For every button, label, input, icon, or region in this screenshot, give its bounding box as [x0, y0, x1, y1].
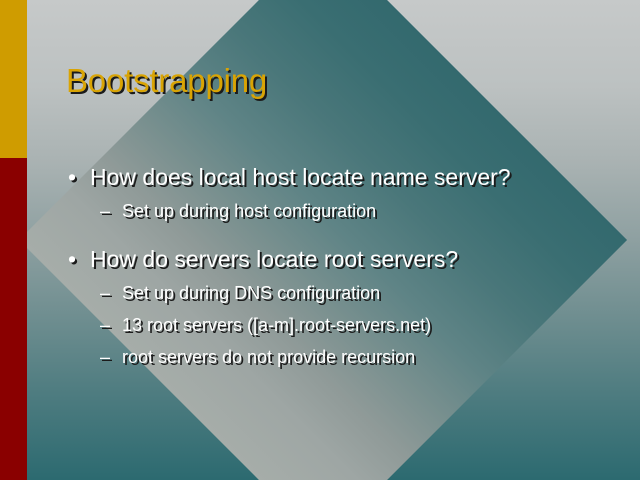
bullet-text: How do servers locate root servers?	[90, 246, 458, 272]
slide-content: Bootstrapping • How does local host loca…	[0, 0, 640, 480]
slide-title: Bootstrapping	[66, 62, 267, 100]
bullet-text: root servers do not provide recursion	[122, 347, 415, 367]
bullet-item-level2: – 13 root servers ([a-m].root-servers.ne…	[64, 313, 624, 338]
bullet-item-level2: – Set up during host configuration	[64, 199, 624, 224]
dash-marker-icon: –	[100, 281, 110, 306]
bullet-text: 13 root servers ([a-m].root-servers.net)	[122, 315, 431, 335]
bullet-item-level1: • How does local host locate name server…	[64, 162, 624, 192]
dash-marker-icon: –	[100, 199, 110, 224]
bullet-text: Set up during DNS configuration	[122, 283, 380, 303]
dash-marker-icon: –	[100, 313, 110, 338]
bullet-marker-icon: •	[68, 162, 76, 192]
presentation-slide: Bootstrapping • How does local host loca…	[0, 0, 640, 480]
dash-marker-icon: –	[100, 345, 110, 370]
bullet-item-level2: – root servers do not provide recursion	[64, 345, 624, 370]
bullet-text: Set up during host configuration	[122, 201, 376, 221]
slide-body-outline: • How does local host locate name server…	[64, 162, 624, 377]
bullet-item-level1: • How do servers locate root servers?	[64, 244, 624, 274]
outline-group-spacer	[64, 231, 624, 244]
bullet-item-level2: – Set up during DNS configuration	[64, 281, 624, 306]
bullet-text: How does local host locate name server?	[90, 164, 511, 190]
bullet-marker-icon: •	[68, 244, 76, 274]
